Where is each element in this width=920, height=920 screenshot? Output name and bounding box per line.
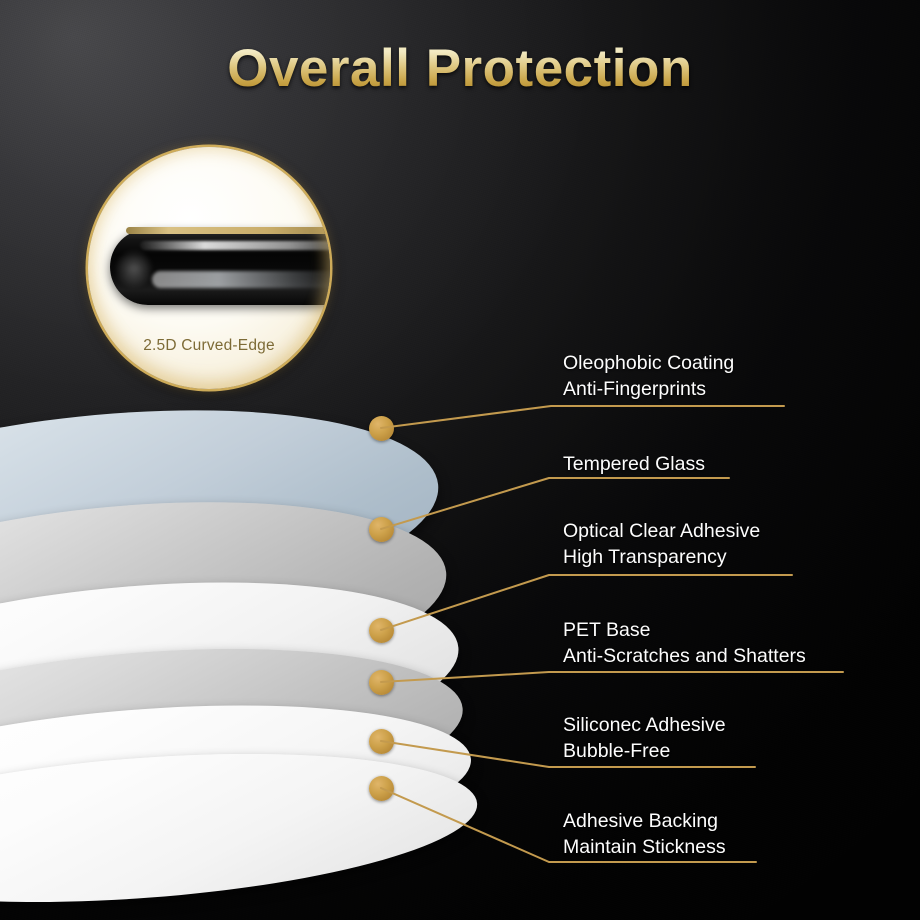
callout-line: Anti-Scratches and Shatters: [563, 644, 806, 670]
callout-line: Maintain Stickness: [563, 835, 726, 861]
callout-line: Anti-Fingerprints: [563, 377, 734, 403]
callout-line: Tempered Glass: [563, 452, 705, 478]
glass-edge-highlight-top: [140, 241, 330, 250]
page-title: Overall Protection: [0, 38, 920, 99]
callout-line: Oleophobic Coating: [563, 351, 734, 377]
callout-text-oleophobic-coating: Oleophobic CoatingAnti-Fingerprints: [563, 351, 734, 402]
callout-text-siliconec-adhesive: Siliconec AdhesiveBubble-Free: [563, 713, 726, 764]
callout-line: Adhesive Backing: [563, 809, 726, 835]
callout-dot-siliconec-adhesive[interactable]: [369, 729, 394, 754]
callout-dot-pet-base[interactable]: [369, 670, 394, 695]
glass-edge-highlight-tip: [114, 249, 154, 289]
callout-line: Optical Clear Adhesive: [563, 519, 760, 545]
callout-line: High Transparency: [563, 545, 760, 571]
inset-caption: 2.5D Curved-Edge: [88, 337, 330, 355]
callout-line: Siliconec Adhesive: [563, 713, 726, 739]
callout-dot-tempered-glass[interactable]: [369, 517, 394, 542]
curved-edge-illustration: [88, 219, 330, 315]
callout-dot-oleophobic-coating[interactable]: [369, 416, 394, 441]
callout-line: PET Base: [563, 618, 806, 644]
curved-edge-inset: 2.5D Curved-Edge: [88, 147, 330, 389]
glass-edge-highlight-lower: [152, 271, 330, 288]
callout-text-optical-clear-adhesive: Optical Clear AdhesiveHigh Transparency: [563, 519, 760, 570]
callout-text-pet-base: PET BaseAnti-Scratches and Shatters: [563, 618, 806, 669]
callout-dot-adhesive-backing[interactable]: [369, 776, 394, 801]
glass-edge-gold-strip: [126, 227, 330, 234]
infographic-canvas: Overall Protection 2.5D Curved-Edge Oleo…: [0, 0, 920, 920]
callout-text-tempered-glass: Tempered Glass: [563, 452, 705, 478]
callout-line: Bubble-Free: [563, 739, 726, 765]
callout-text-adhesive-backing: Adhesive BackingMaintain Stickness: [563, 809, 726, 860]
callout-dot-optical-clear-adhesive[interactable]: [369, 618, 394, 643]
